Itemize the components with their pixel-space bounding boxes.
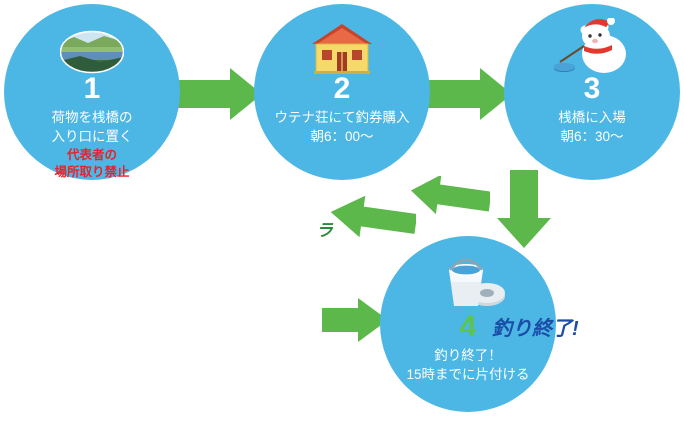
bucket-icon — [429, 252, 507, 312]
step-label-2: ウテナ荘にて釣券購入 朝6：00〜 — [275, 108, 410, 146]
step-label-3: 桟橋に入場 朝6：30〜 — [558, 108, 626, 146]
arrow-into-step4 — [322, 296, 388, 344]
house-icon — [310, 14, 374, 74]
overlay-fishing-end: 釣り終了! — [492, 312, 579, 341]
step-label-4: 釣り終了！ 15時までに片付ける — [406, 346, 529, 384]
arrow-step4-return-b — [410, 176, 490, 224]
step-circle-3: 3 桟橋に入場 朝6：30〜 — [504, 4, 680, 180]
arrow-step3-to-step4 — [494, 170, 554, 248]
arrow-step2-to-step3 — [428, 66, 512, 122]
step-label-1: 荷物を桟橋の 入り口に置く — [52, 108, 133, 146]
diagram-canvas: 1 荷物を桟橋の 入り口に置く 代表者の 場所取り禁止 2 — [0, 0, 684, 424]
step-number-3: 3 — [584, 74, 601, 104]
step-number-4: 4 — [460, 312, 477, 342]
step-number-1: 1 — [84, 74, 101, 104]
overlay-green-mark: ラ — [316, 216, 333, 241]
step-circle-1: 1 荷物を桟橋の 入り口に置く 代表者の 場所取り禁止 — [4, 4, 180, 180]
polar-bear-fishing-icon — [554, 14, 630, 74]
arrow-step1-to-step2 — [178, 66, 262, 122]
step-number-2: 2 — [334, 74, 351, 104]
step-circle-2: 2 ウテナ荘にて釣券購入 朝6：00〜 — [254, 4, 430, 180]
lake-photo-icon — [60, 14, 124, 74]
arrow-step4-return-a — [330, 196, 416, 246]
step-sublabel-1: 代表者の 場所取り禁止 — [54, 147, 129, 181]
